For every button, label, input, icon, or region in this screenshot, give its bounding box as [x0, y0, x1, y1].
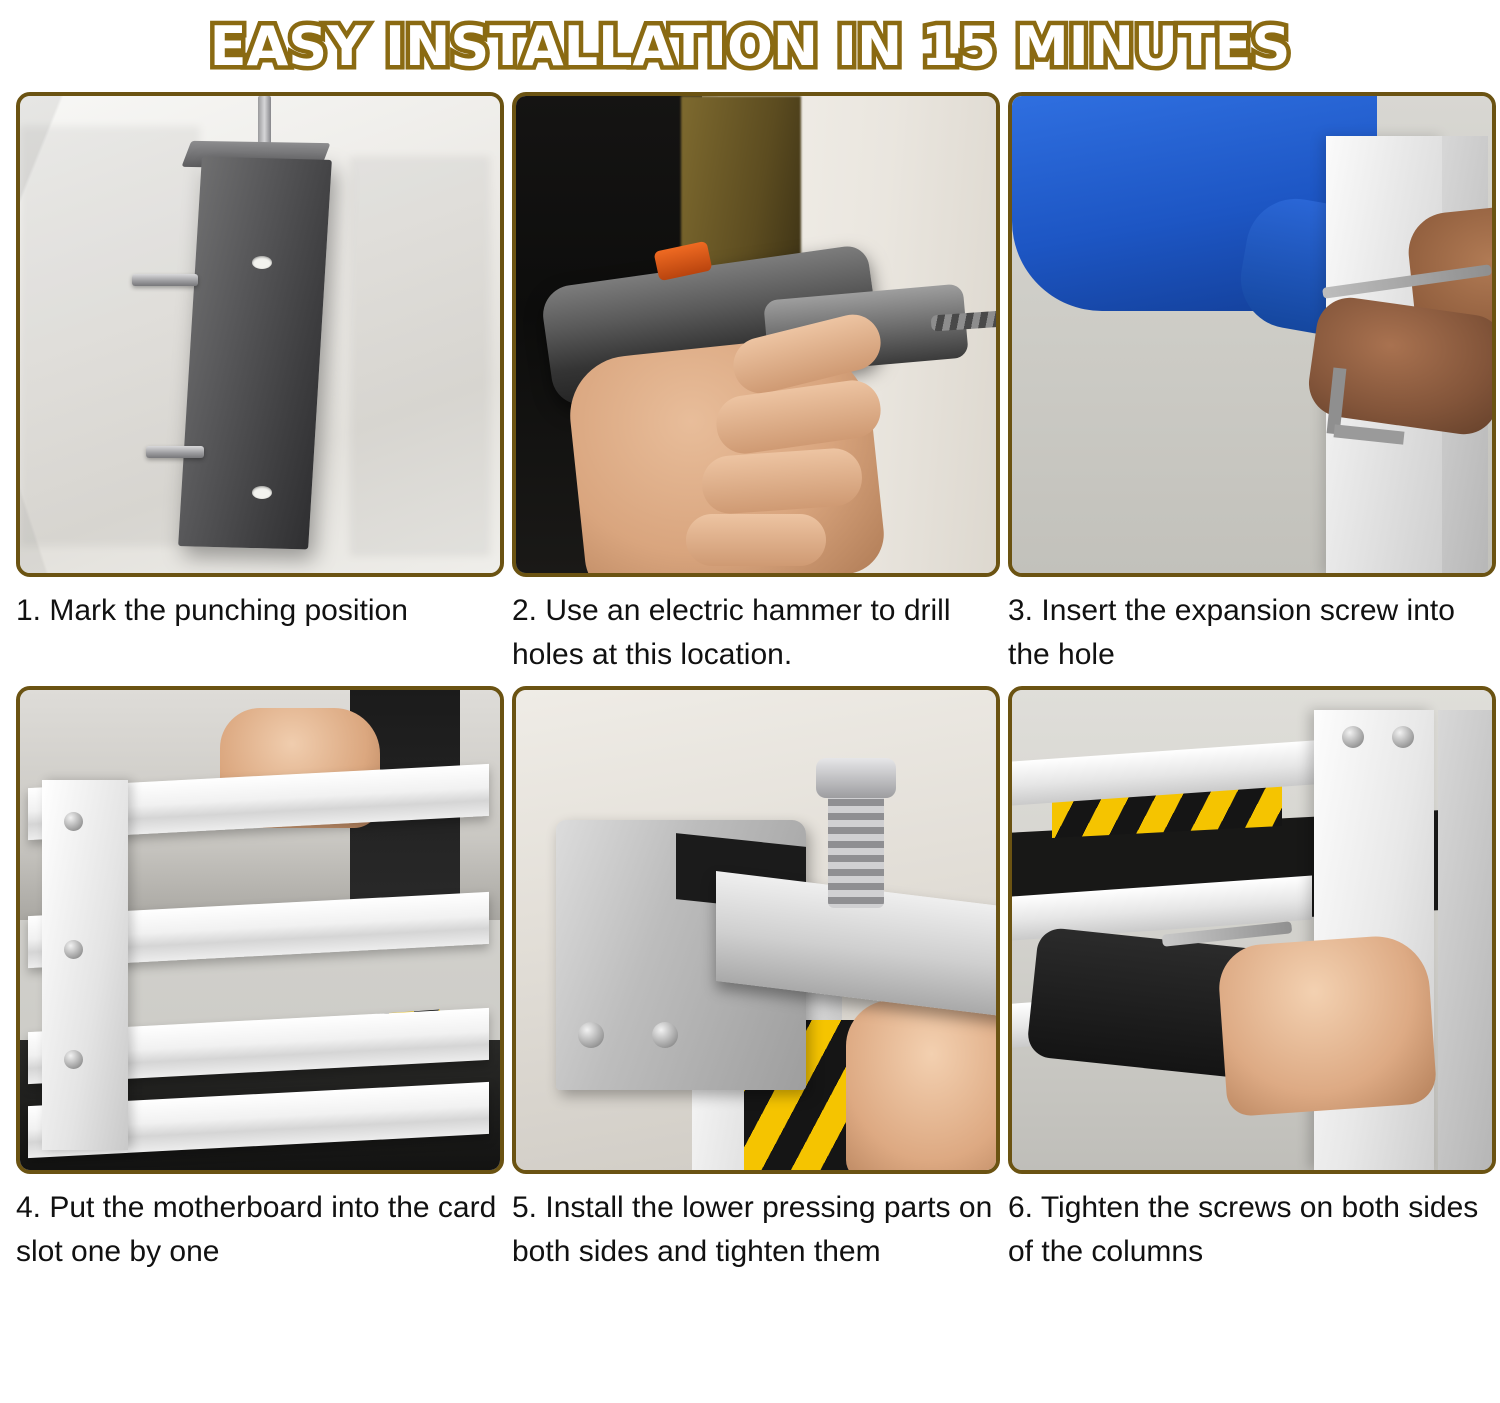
photo5-bolt-head — [816, 758, 896, 798]
step-card-5: 5. Install the lower pressing parts on b… — [512, 686, 1000, 1273]
step-photo-1 — [16, 92, 504, 577]
step-photo-3 — [1008, 92, 1496, 577]
step-photo-5 — [512, 686, 1000, 1174]
step-card-1: 1. Mark the punching position — [16, 92, 504, 676]
photo5-screw-2 — [652, 1022, 678, 1048]
step-card-3: 3. Insert the expansion screw into the h… — [1008, 92, 1496, 676]
step-caption-3: 3. Insert the expansion screw into the h… — [1008, 589, 1496, 676]
photo1-mark-hole-upper — [252, 256, 272, 269]
photo4-column — [42, 780, 128, 1150]
photo2-little-finger — [686, 514, 826, 566]
banner-title: EASY INSTALLATION IN 15 MINUTES — [210, 15, 1291, 78]
step-caption-1: 1. Mark the punching position — [16, 589, 504, 633]
step-caption-6: 6. Tighten the screws on both sides of t… — [1008, 1186, 1496, 1273]
step-card-4: 4. Put the motherboard into the card slo… — [16, 686, 504, 1273]
photo6-screw-top-1 — [1342, 726, 1364, 748]
photo1-mark-hole-lower — [252, 486, 272, 499]
photo4-screw-3 — [64, 1050, 83, 1069]
step-caption-5: 5. Install the lower pressing parts on b… — [512, 1186, 1000, 1273]
step-photo-2 — [512, 92, 1000, 577]
step-caption-2: 2. Use an electric hammer to drill holes… — [512, 589, 1000, 676]
photo5-screw-1 — [578, 1022, 604, 1048]
step-photo-6 — [1008, 686, 1496, 1174]
photo1-bolt-upper — [132, 274, 198, 286]
photo6-column-side — [1438, 710, 1492, 1170]
photo1-sheet-fold-right — [350, 156, 490, 556]
photo4-screw-2 — [64, 940, 83, 959]
photo1-bolt-lower — [146, 446, 204, 458]
photo6-screw-top-2 — [1392, 726, 1414, 748]
step-card-6: 6. Tighten the screws on both sides of t… — [1008, 686, 1496, 1273]
installation-guide-page: EASY INSTALLATION IN 15 MINUTES 1. Mark … — [0, 0, 1500, 1403]
photo1-sheet-fold — [20, 126, 200, 546]
step-card-2: 2. Use an electric hammer to drill holes… — [512, 92, 1000, 676]
photo5-hand — [846, 1000, 1000, 1174]
photo4-screw-1 — [64, 812, 83, 831]
photo6-hand — [1216, 933, 1437, 1117]
steps-grid: 1. Mark the punching position 2. Use an … — [14, 92, 1486, 1273]
banner: EASY INSTALLATION IN 15 MINUTES — [14, 0, 1486, 92]
step-caption-4: 4. Put the motherboard into the card slo… — [16, 1186, 504, 1273]
photo2-ring-finger — [700, 446, 864, 515]
step-photo-4 — [16, 686, 504, 1174]
